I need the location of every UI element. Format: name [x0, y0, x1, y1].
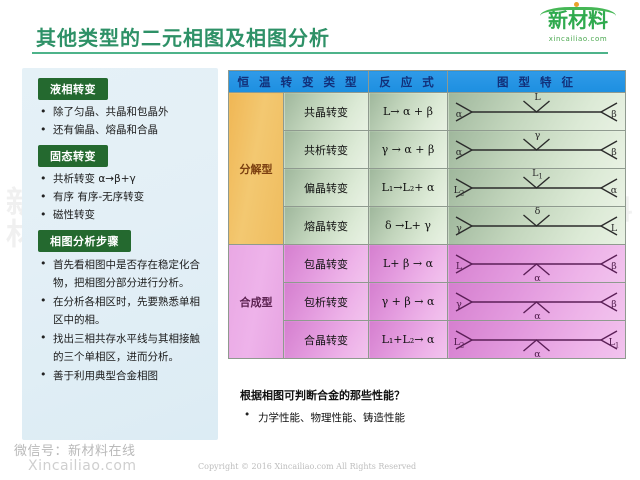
phase-diagram-figure-cell: αβγ	[448, 131, 626, 169]
logo-mark: 新材料	[526, 6, 630, 36]
svg-text:L: L	[456, 261, 463, 272]
logo-dot-icon	[574, 2, 579, 7]
column-header-figure: 图 型 特 征	[448, 71, 626, 93]
svg-text:α: α	[456, 109, 463, 120]
sidebar-bullet-item: 找出三相共存水平线与其相接触的三个单相区，进而分析。	[40, 330, 210, 366]
sidebar-bullet-item: 善于利用典型合金相图	[40, 367, 210, 385]
svg-text:β: β	[611, 261, 617, 272]
transformation-name-cell: 共析转变	[284, 131, 369, 169]
table-row: 熔晶转变δ →L+ γγLδ	[229, 207, 626, 245]
logo-subtitle: xincailiao.com	[526, 35, 630, 43]
phase-diagram-figure-cell: αβL	[448, 93, 626, 131]
sidebar-bullet-list: 共析转变 α→β+γ有序 有序-无序转变磁性转变	[22, 171, 218, 224]
table-row: 合晶转变L₁+L₂→ αL2L1α	[229, 321, 626, 359]
reaction-formula-cell: L₁+L₂→ α	[369, 321, 448, 359]
transformation-name-cell: 偏晶转变	[284, 169, 369, 207]
table-row: 分解型共晶转变L→ α + βαβL	[229, 93, 626, 131]
sidebar-bullet-list: 除了匀晶、共晶和包晶外还有偏晶、熔晶和合晶	[22, 104, 218, 139]
svg-text:L1: L1	[532, 169, 543, 181]
sidebar-bullet-item: 在分析各相区时，先要熟悉单相区中的相。	[40, 293, 210, 329]
svg-text:L1: L1	[609, 337, 620, 350]
svg-text:α: α	[534, 349, 541, 358]
svg-text:δ: δ	[535, 207, 541, 217]
sidebar-section-tag: 相图分析步骤	[38, 230, 131, 252]
svg-text:γ: γ	[456, 299, 462, 310]
sidebar-section-tag: 液相转变	[38, 78, 108, 100]
svg-text:L2: L2	[454, 185, 465, 198]
question-answer-list: 力学性能、物理性能、铸造性能	[240, 410, 540, 425]
reaction-formula-cell: L₁→L₂+ α	[369, 169, 448, 207]
header-divider	[32, 52, 608, 54]
svg-text:α: α	[534, 311, 541, 320]
column-header-reaction: 反 应 式	[369, 71, 448, 93]
phase-diagram-figure-cell: γLδ	[448, 207, 626, 245]
svg-text:γ: γ	[535, 131, 541, 141]
transformation-name-cell: 共晶转变	[284, 93, 369, 131]
table-row: 偏晶转变L₁→L₂+ αL2αL1	[229, 169, 626, 207]
svg-text:β: β	[611, 109, 617, 120]
footer-copyright: Copyright © 2016 Xincailiao.com All Righ…	[198, 462, 416, 471]
category-cell: 分解型	[229, 93, 284, 245]
table-row: 共析转变γ → α + βαβγ	[229, 131, 626, 169]
transformation-name-cell: 包晶转变	[284, 245, 369, 283]
category-cell: 合成型	[229, 245, 284, 359]
column-header-type: 恒 温 转 变 类 型	[229, 71, 369, 93]
table-row: 包析转变γ + β → αγβα	[229, 283, 626, 321]
sidebar-bullet-item: 磁性转变	[40, 207, 210, 224]
table-row: 合成型包晶转变L+ β → αLβα	[229, 245, 626, 283]
phase-diagram-figure-cell: γβα	[448, 283, 626, 321]
question-title: 根据相图可判断合金的那些性能？	[240, 388, 540, 404]
sidebar-bullet-item: 共析转变 α→β+γ	[40, 171, 210, 188]
svg-text:L2: L2	[454, 337, 465, 350]
svg-text:β: β	[611, 147, 617, 158]
svg-text:γ: γ	[456, 223, 462, 234]
svg-text:α: α	[534, 273, 541, 282]
svg-text:L: L	[611, 223, 618, 234]
reaction-formula-cell: δ →L+ γ	[369, 207, 448, 245]
transformation-name-cell: 包析转变	[284, 283, 369, 321]
question-answer-item: 力学性能、物理性能、铸造性能	[240, 410, 540, 425]
svg-text:α: α	[611, 185, 618, 196]
reaction-formula-cell: L+ β → α	[369, 245, 448, 283]
transformation-name-cell: 熔晶转变	[284, 207, 369, 245]
slide-root: 新材 料 其他类型的二元相图及相图分析 新材料 xincailiao.com 液…	[0, 0, 640, 480]
sidebar-bullet-list: 首先看相图中是否存在稳定化合物，把相图分部分进行分析。在分析各相区时，先要熟悉单…	[22, 256, 218, 385]
sidebar-bullet-item: 除了匀晶、共晶和包晶外	[40, 104, 210, 121]
sidebar-bullet-item: 有序 有序-无序转变	[40, 189, 210, 206]
brand-logo: 新材料 xincailiao.com	[526, 6, 630, 50]
table-body: 分解型共晶转变L→ α + βαβL共析转变γ → α + βαβγ偏晶转变L₁…	[229, 93, 626, 359]
svg-text:α: α	[456, 147, 463, 158]
transformation-name-cell: 合晶转变	[284, 321, 369, 359]
logo-roof-icon	[540, 7, 616, 16]
reaction-formula-cell: γ → α + β	[369, 131, 448, 169]
left-notes-panel: 液相转变除了匀晶、共晶和包晶外还有偏晶、熔晶和合晶固态转变共析转变 α→β+γ有…	[22, 68, 218, 440]
phase-diagram-figure-cell: L2αL1	[448, 169, 626, 207]
reaction-formula-cell: γ + β → α	[369, 283, 448, 321]
transformation-table: 恒 温 转 变 类 型 反 应 式 图 型 特 征 分解型共晶转变L→ α + …	[228, 70, 626, 359]
phase-diagram-figure-cell: L2L1α	[448, 321, 626, 359]
watermark-wechat: 微信号：新材料在线	[14, 440, 136, 459]
sidebar-bullet-item: 首先看相图中是否存在稳定化合物，把相图分部分进行分析。	[40, 256, 210, 292]
reaction-formula-cell: L→ α + β	[369, 93, 448, 131]
sidebar-section-tag: 固态转变	[38, 145, 108, 167]
svg-text:β: β	[611, 299, 617, 310]
phase-diagram-figure-cell: Lβα	[448, 245, 626, 283]
svg-text:L: L	[534, 93, 541, 103]
watermark-site: Xincailiao.com	[28, 458, 137, 474]
page-title: 其他类型的二元相图及相图分析	[36, 22, 330, 51]
table-header-row: 恒 温 转 变 类 型 反 应 式 图 型 特 征	[229, 71, 626, 93]
sidebar-bullet-item: 还有偏晶、熔晶和合晶	[40, 122, 210, 139]
question-block: 根据相图可判断合金的那些性能？ 力学性能、物理性能、铸造性能	[240, 388, 540, 425]
